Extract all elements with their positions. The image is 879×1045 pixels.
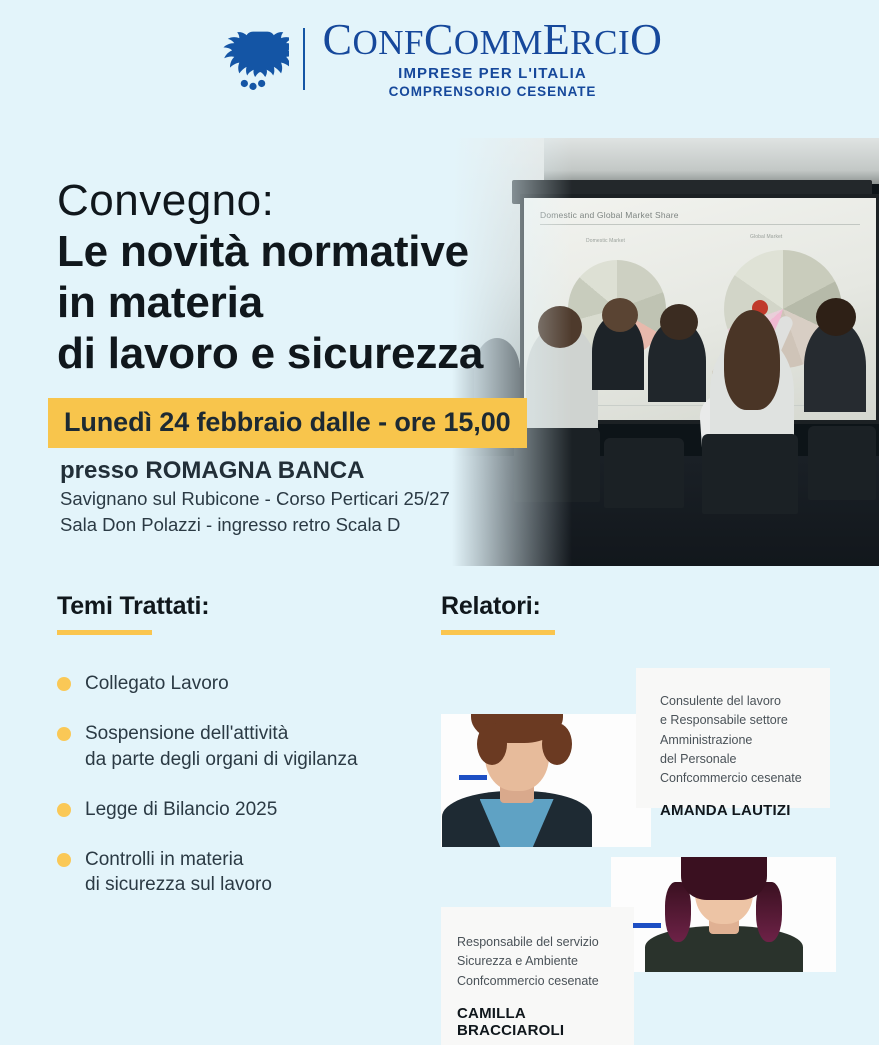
topic-item: Sospensione dell'attivitàda parte degli … — [57, 721, 437, 772]
speaker-name-2: CAMILLA BRACCIAROLI — [457, 1005, 620, 1039]
event-date-banner: Lunedì 24 febbraio dalle - ore 15,00 — [48, 398, 527, 448]
venue-block: presso ROMAGNA BANCA Savignano sul Rubic… — [60, 455, 450, 539]
logo-region: COMPRENSORIO CESENATE — [389, 84, 597, 99]
bullet-dot-icon — [57, 727, 71, 741]
conference-photo: Domestic and Global Market Share Domesti… — [452, 138, 879, 566]
speaker-photo-amanda-lautizi — [441, 714, 651, 847]
topic-item: Collegato Lavoro — [57, 671, 437, 696]
topics-heading-underline — [57, 630, 152, 635]
slide-chart-right-label: Global Market — [750, 234, 782, 240]
event-kicker: Convegno: — [57, 175, 483, 226]
event-title-line-2: in materia — [57, 277, 483, 328]
event-title-line-1: Le novità normative — [57, 226, 483, 277]
eagle-icon — [217, 23, 289, 95]
speaker-photo-camilla-bracciaroli — [611, 857, 836, 972]
event-date-text: Lunedì 24 febbraio dalle - ore 15,00 — [64, 407, 511, 437]
logo-wordmark: CONFCOMMERCIO — [323, 18, 663, 62]
topics-heading: Temi Trattati: — [57, 592, 437, 621]
speaker-dash-marker-2 — [633, 923, 661, 928]
topic-text: Controlli in materiadi sicurezza sul lav… — [85, 847, 272, 898]
event-title-line-3: di lavoro e sicurezza — [57, 328, 483, 379]
brand-header: CONFCOMMERCIO IMPRESE PER L'ITALIA COMPR… — [0, 18, 879, 99]
bullet-dot-icon — [57, 677, 71, 691]
logo-tagline: IMPRESE PER L'ITALIA — [398, 65, 587, 82]
event-title-block: Convegno: Le novità normative in materia… — [57, 175, 483, 379]
slide-chart-left-label: Domestic Market — [586, 238, 625, 244]
venue-name: presso ROMAGNA BANCA — [60, 455, 450, 486]
speaker-role-1: Consulente del lavoroe Responsabile sett… — [660, 692, 812, 788]
speaker-card-amanda-lautizi: Consulente del lavoroe Responsabile sett… — [636, 668, 830, 808]
speaker-card-camilla-bracciaroli: Responsabile del servizioSicurezza e Amb… — [441, 907, 634, 1045]
venue-room: Sala Don Polazzi - ingresso retro Scala … — [60, 512, 450, 538]
logo-divider — [303, 28, 305, 90]
bullet-dot-icon — [57, 803, 71, 817]
venue-address: Savignano sul Rubicone - Corso Perticari… — [60, 486, 450, 512]
topic-item: Controlli in materiadi sicurezza sul lav… — [57, 847, 437, 898]
topic-text: Sospensione dell'attivitàda parte degli … — [85, 721, 358, 772]
speakers-heading-underline — [441, 630, 555, 635]
speaker-name-1: AMANDA LAUTIZI — [660, 802, 812, 819]
speaker-dash-marker-1 — [459, 775, 487, 780]
topic-text: Collegato Lavoro — [85, 671, 229, 696]
topics-section: Temi Trattati: Collegato LavoroSospensio… — [57, 592, 437, 923]
topic-item: Legge di Bilancio 2025 — [57, 797, 437, 822]
topics-list: Collegato LavoroSospensione dell'attivit… — [57, 671, 437, 898]
speaker-role-2: Responsabile del servizioSicurezza e Amb… — [457, 933, 620, 991]
topic-text: Legge di Bilancio 2025 — [85, 797, 277, 822]
speakers-section: Relatori: Consulente del lavoroe Respons… — [441, 592, 861, 635]
bullet-dot-icon — [57, 853, 71, 867]
speakers-heading: Relatori: — [441, 592, 861, 621]
